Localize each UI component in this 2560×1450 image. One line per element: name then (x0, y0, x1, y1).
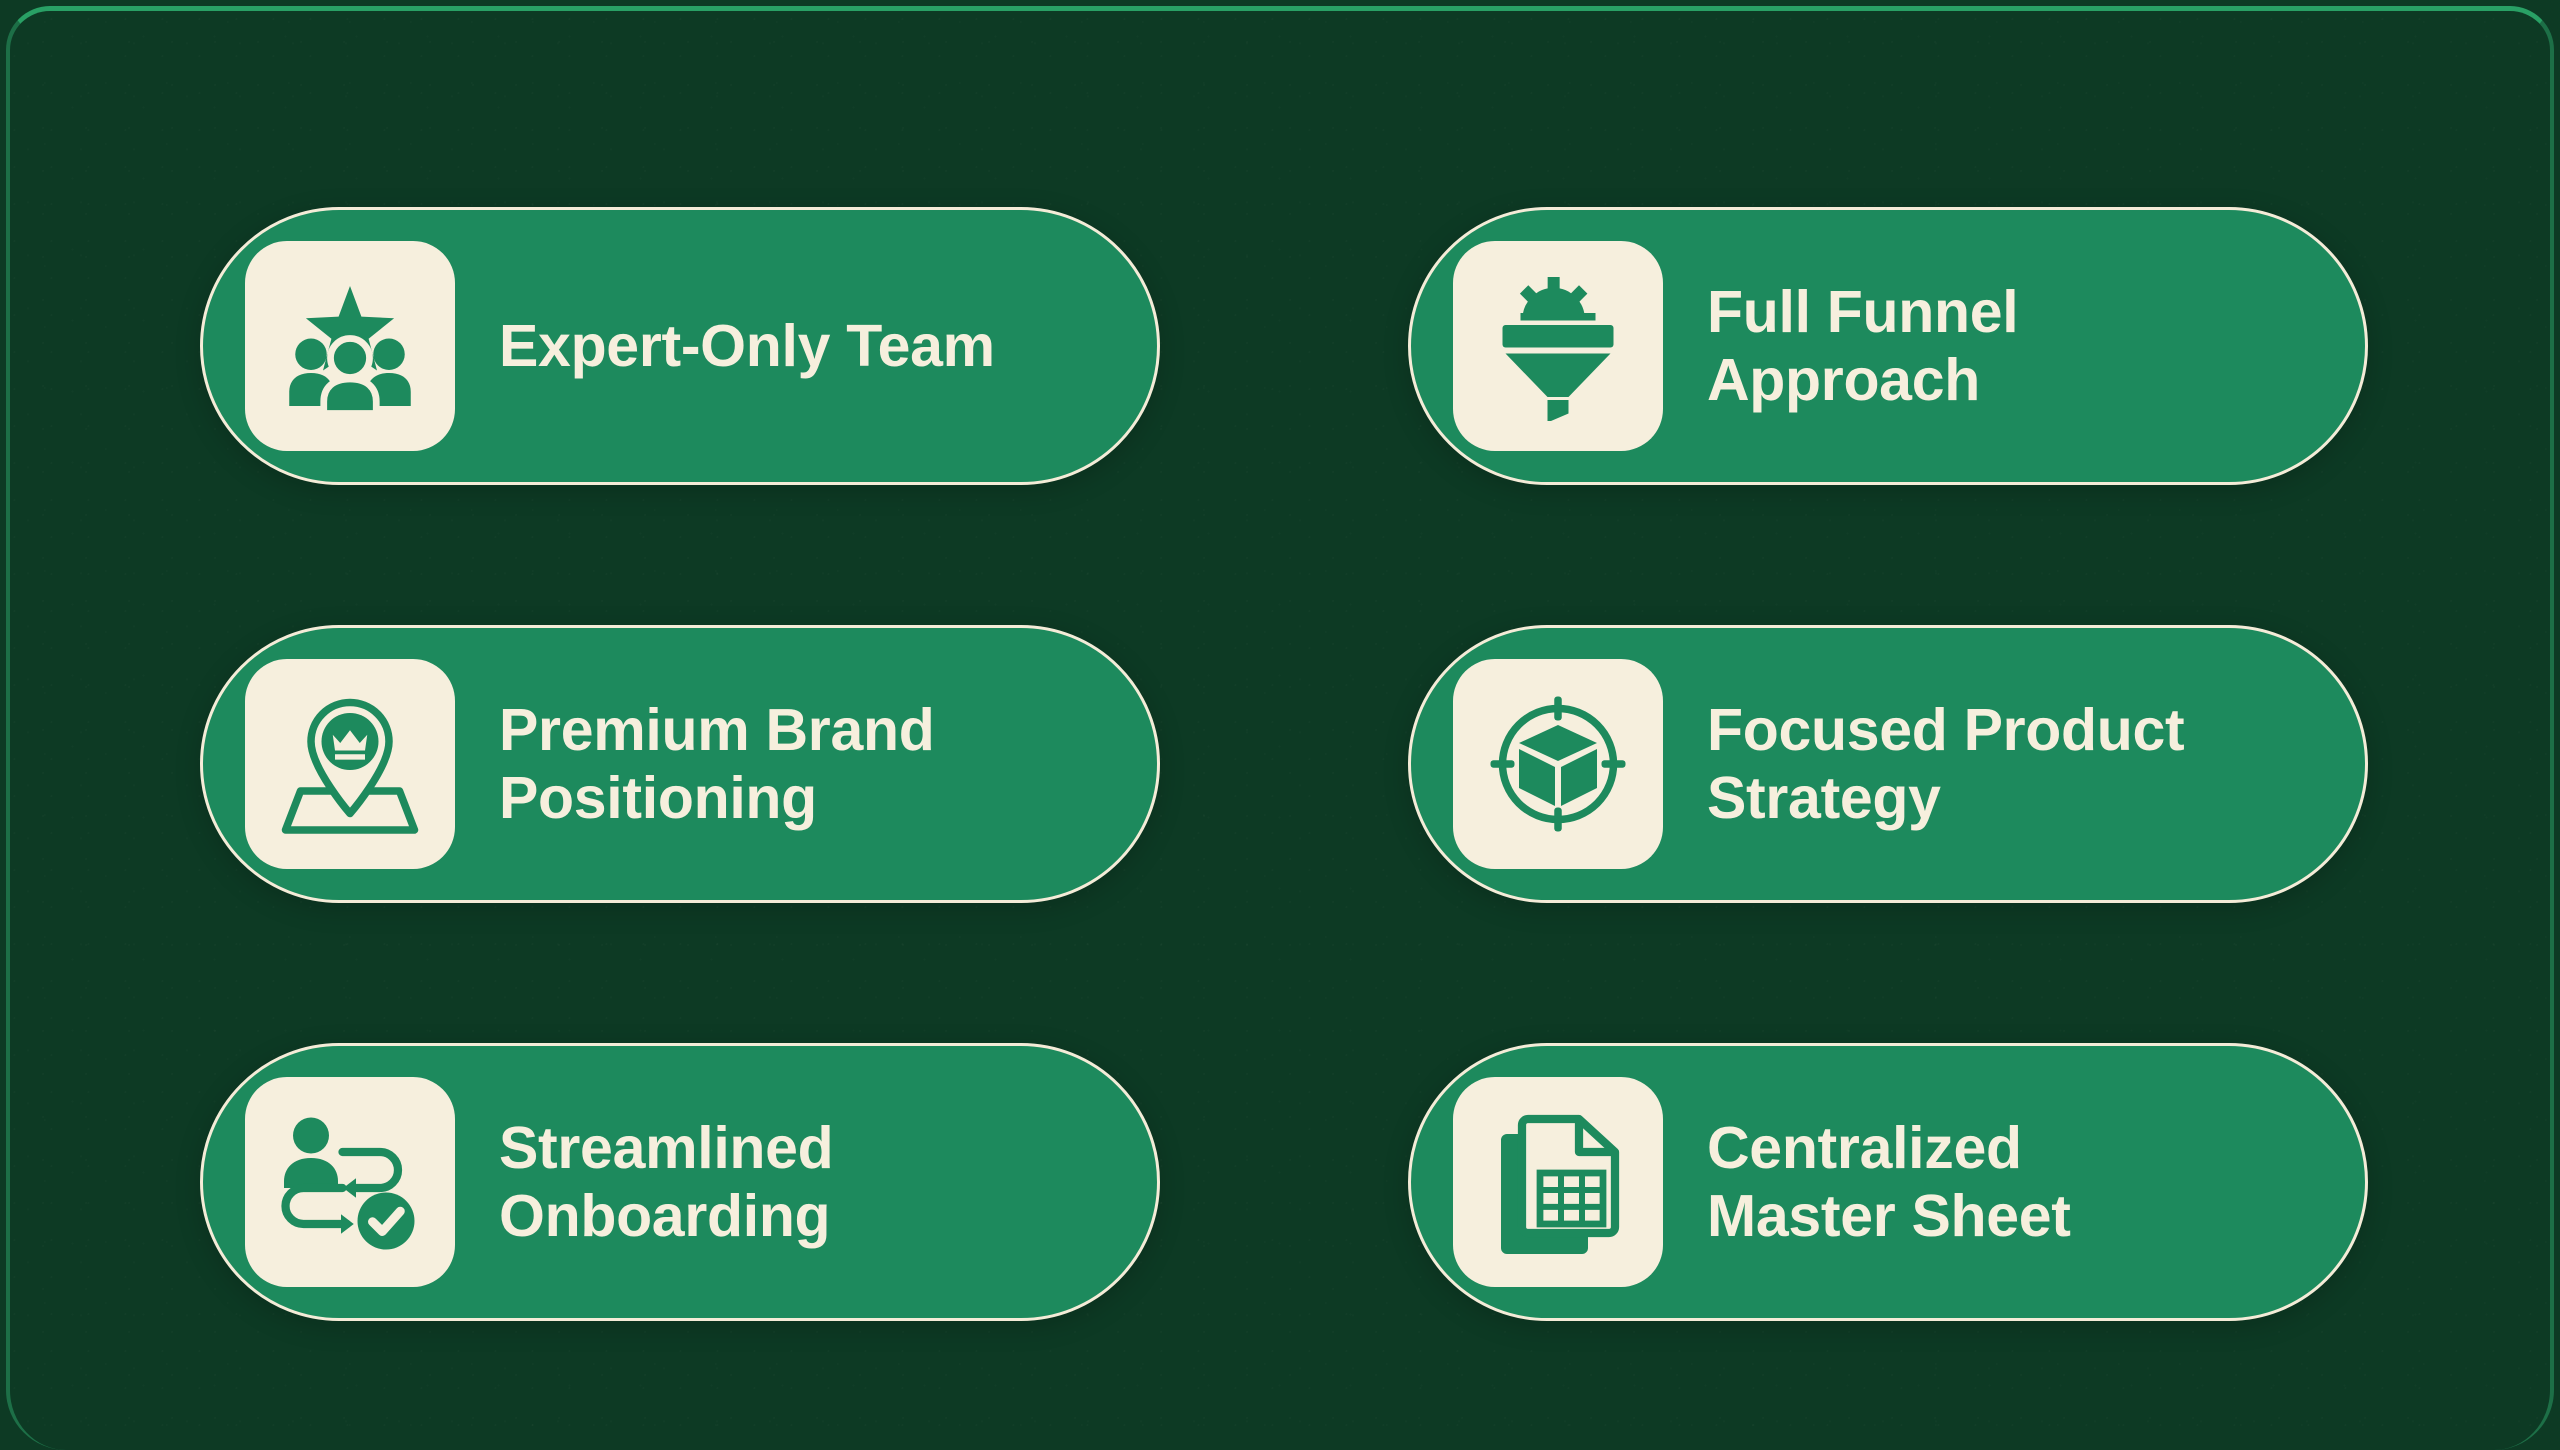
feature-card-centralized-master-sheet[interactable]: Centralized Master Sheet (1408, 1043, 2368, 1321)
feature-card-grid: Expert-Only Team (200, 207, 2368, 1321)
feature-card-streamlined-onboarding[interactable]: Streamlined Onboarding (200, 1043, 1160, 1321)
feature-card-focused-product-strategy[interactable]: Focused Product Strategy (1408, 625, 2368, 903)
feature-card-full-funnel-approach[interactable]: Full Funnel Approach (1408, 207, 2368, 485)
feature-panel: Expert-Only Team (6, 6, 2554, 1450)
cube-target-icon (1453, 659, 1663, 869)
feature-card-label: Streamlined Onboarding (499, 1114, 833, 1251)
funnel-gear-icon (1453, 241, 1663, 451)
feature-card-premium-brand-positioning[interactable]: Premium Brand Positioning (200, 625, 1160, 903)
map-pin-crown-icon (245, 659, 455, 869)
feature-card-label: Centralized Master Sheet (1707, 1114, 2071, 1251)
feature-card-label: Full Funnel Approach (1707, 278, 2018, 415)
onboarding-flow-check-icon (245, 1077, 455, 1287)
feature-card-label: Premium Brand Positioning (499, 696, 934, 833)
feature-card-label: Focused Product Strategy (1707, 696, 2184, 833)
feature-card-label: Expert-Only Team (499, 312, 995, 380)
screenshot-root: Expert-Only Team (0, 0, 2560, 1450)
spreadsheet-document-icon (1453, 1077, 1663, 1287)
feature-card-expert-only-team[interactable]: Expert-Only Team (200, 207, 1160, 485)
team-star-icon (245, 241, 455, 451)
